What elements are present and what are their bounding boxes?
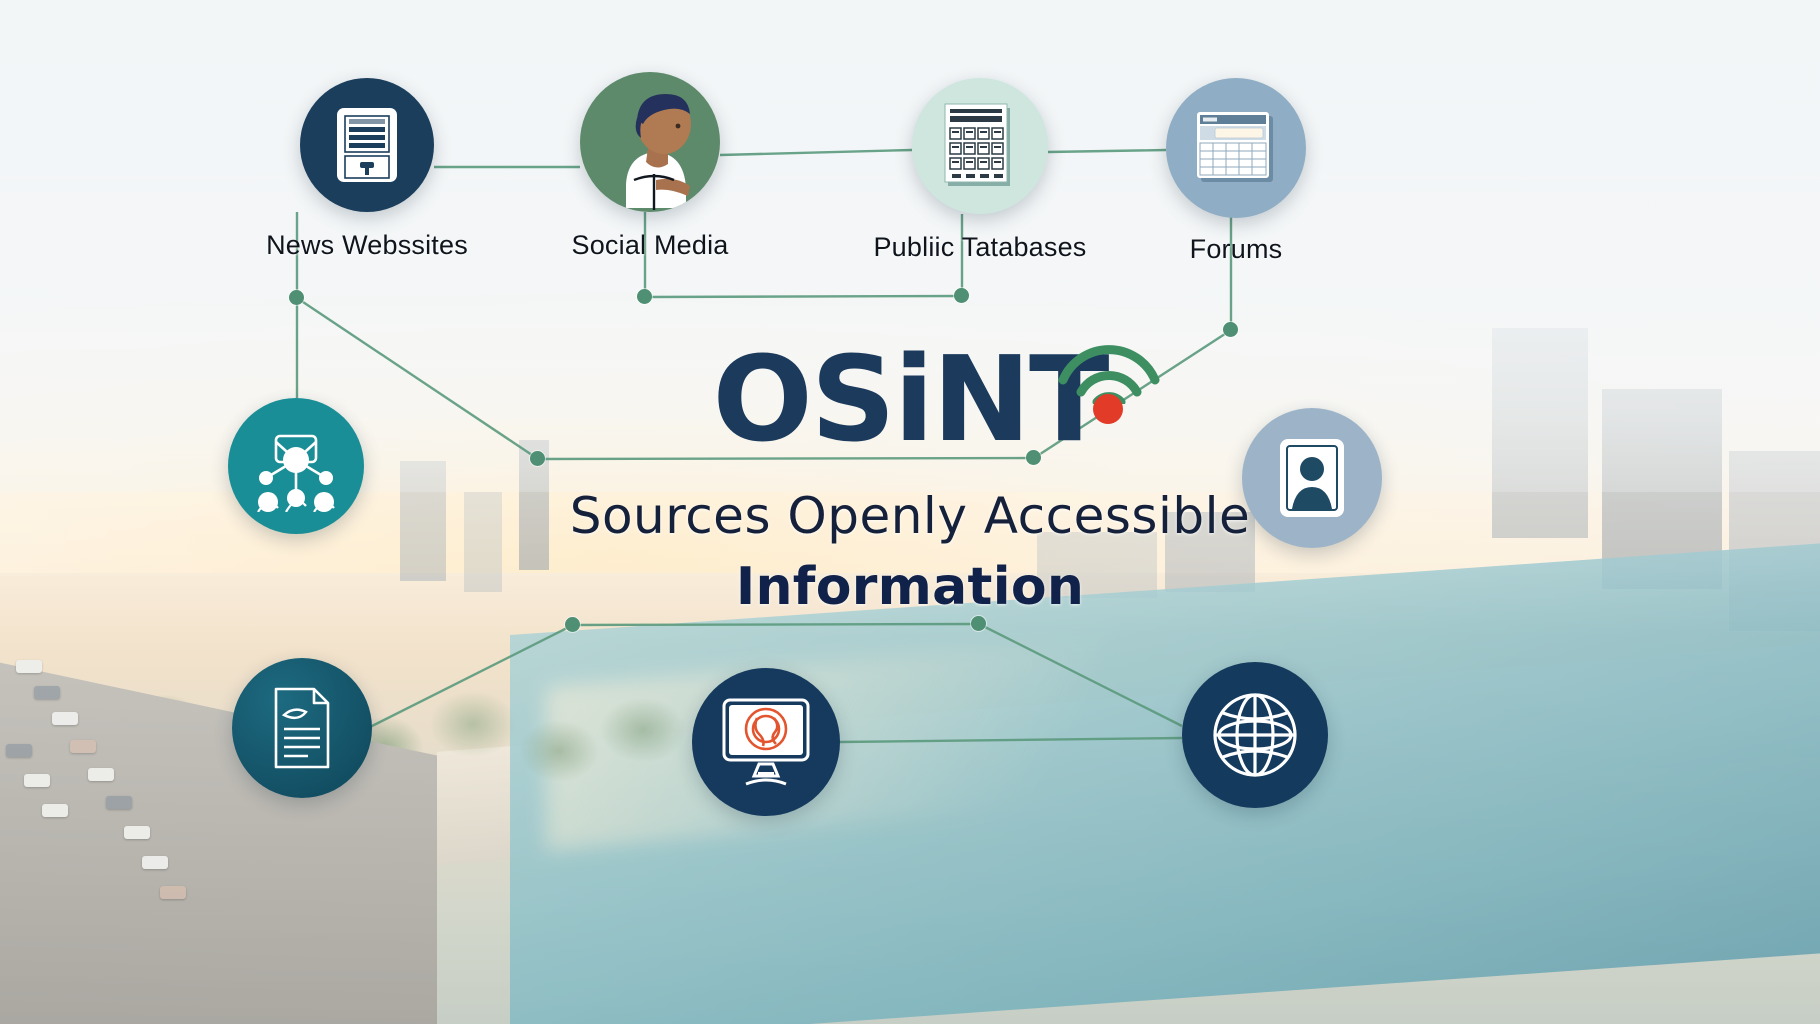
spreadsheet-icon [942,100,1018,192]
link-social-to-databases [720,150,912,155]
junction-dot [289,290,304,305]
node-news-websites[interactable]: News Webssites [300,78,434,212]
monitor-globe-icon [718,696,814,788]
junction-dot [1223,322,1238,337]
link-databases-to-forums [1048,150,1166,152]
node-network-graph[interactable] [228,398,364,534]
junction-dot [637,289,652,304]
network-graph-circle[interactable] [228,398,364,534]
network-nodes-icon [248,420,344,512]
node-public-databases[interactable]: Publiic Tatabases [912,78,1048,214]
tagline-line-1: Sources Openly Accessible [410,487,1410,545]
globe-icon [1207,687,1303,783]
logo-accent-dot [1093,394,1123,424]
node-documents[interactable] [232,658,372,798]
node-social-media[interactable]: Social Media [580,72,720,212]
document-stack-icon [264,683,340,773]
link-junction-b-to-c [645,296,962,297]
node-monitor-analysis[interactable] [692,668,840,816]
osint-logo: OSiNT [713,340,1108,458]
public-databases-circle[interactable] [912,78,1048,214]
news-websites-circle[interactable] [300,78,434,212]
logo-text-os: OS [713,330,894,468]
junction-dot [971,616,986,631]
tagline-line-2: Information [410,557,1410,617]
node-global-web[interactable] [1182,662,1328,808]
link-bottom-band [573,624,979,625]
logo-text-i: i [894,330,932,468]
node-forums[interactable]: Forums [1166,78,1306,218]
global-web-circle[interactable] [1182,662,1328,808]
tagline-block: Sources Openly Accessible Information [410,487,1410,617]
node-label-forums: Forums [1190,234,1283,265]
link-g-to-documents [370,625,573,727]
link-monitor-to-globe [840,738,1182,742]
monitor-analysis-circle[interactable] [692,668,840,816]
person-profile-icon [580,72,720,212]
browser-table-icon [1193,108,1279,188]
social-media-circle[interactable] [580,72,720,212]
osint-infographic: News Webssites Social Media [0,0,1820,1024]
forums-circle[interactable] [1166,78,1306,218]
junction-dot [565,617,580,632]
documents-circle[interactable] [232,658,372,798]
node-label-public-databases: Publiic Tatabases [873,232,1086,263]
brand-block: OSiNT [540,340,1280,458]
newspaper-icon [334,105,400,185]
junction-dot [954,288,969,303]
link-h-to-globe [979,624,1182,726]
node-label-news-websites: News Webssites [266,230,468,261]
node-label-social-media: Social Media [572,230,729,261]
